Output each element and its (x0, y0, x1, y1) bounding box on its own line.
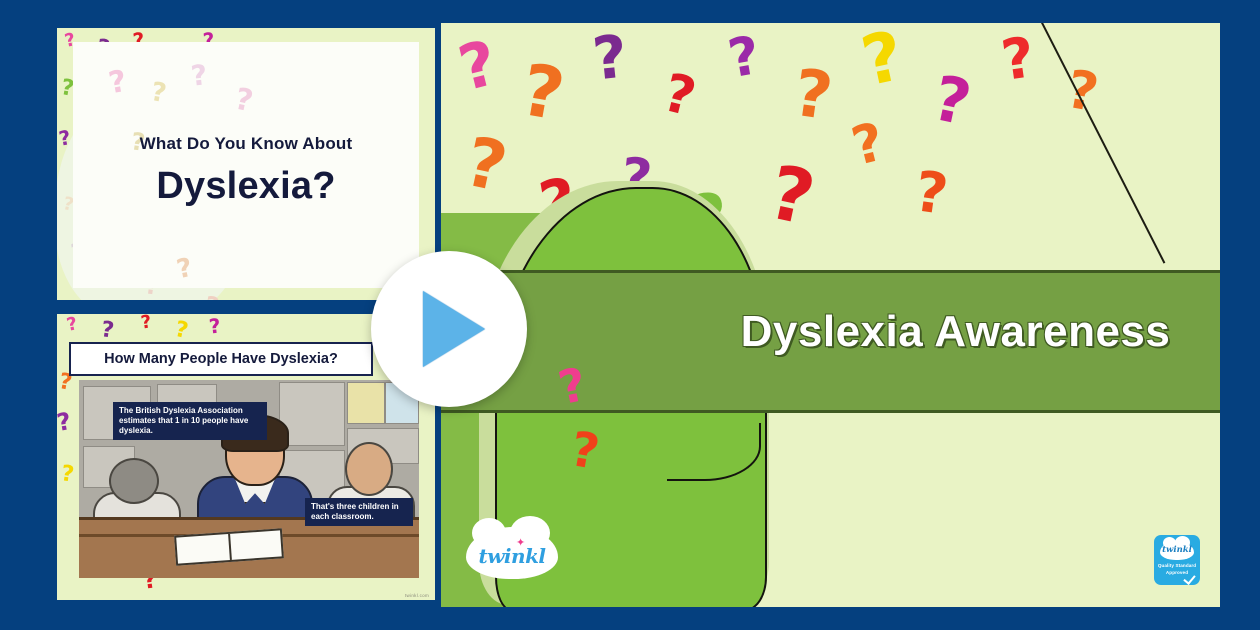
main-slide-title: Dyslexia Awareness (441, 307, 1220, 357)
classroom-illustration: The British Dyslexia Association estimat… (79, 380, 419, 578)
question-mark-icon: ? (173, 319, 190, 343)
question-mark-icon: ? (65, 315, 79, 335)
slide-content-card: ??????? What Do You Know About Dyslexia? (73, 42, 419, 288)
main-slide-preview[interactable]: ????????????????????? Dyslexia Awareness… (441, 23, 1220, 607)
question-mark-icon: ? (208, 315, 222, 336)
question-mark-icon: ? (149, 79, 168, 107)
thumb-two-heading: How Many People Have Dyslexia? (69, 342, 373, 376)
quality-standard-badge: twinkl Quality Standard Approved (1154, 535, 1200, 585)
callout-classroom: That's three children in each classroom. (305, 498, 413, 526)
question-mark-icon: ? (57, 409, 73, 435)
play-triangle-icon (423, 291, 485, 367)
star-icon: ✦ (516, 539, 525, 548)
question-mark-icon: ? (190, 61, 209, 91)
badge-logo-text: twinkl (1154, 545, 1200, 555)
question-mark-icon: ? (174, 255, 194, 284)
question-mark-icon: ? (60, 463, 76, 487)
callout-statistic: The British Dyslexia Association estimat… (113, 402, 267, 440)
thumb-one-title-line-2: Dyslexia? (73, 165, 419, 208)
question-mark-icon: ? (140, 314, 153, 333)
thumb-one-title-line-1: What Do You Know About (73, 134, 419, 154)
twinkl-logo: twinkl ✦ (466, 527, 558, 579)
question-mark-icon: ? (100, 319, 116, 343)
presentation-preview: ?????????? ??????? What Do You Know Abou… (0, 0, 1260, 630)
twinkl-logo-text: twinkl (466, 544, 558, 568)
slide-thumbnail-what-do-you-know[interactable]: ?????????? ??????? What Do You Know Abou… (57, 28, 435, 300)
play-button[interactable] (371, 251, 527, 407)
thumb-two-credit: twinkl.com (405, 593, 429, 598)
question-mark-icon: ? (107, 67, 129, 100)
question-mark-icon: ? (232, 85, 255, 118)
